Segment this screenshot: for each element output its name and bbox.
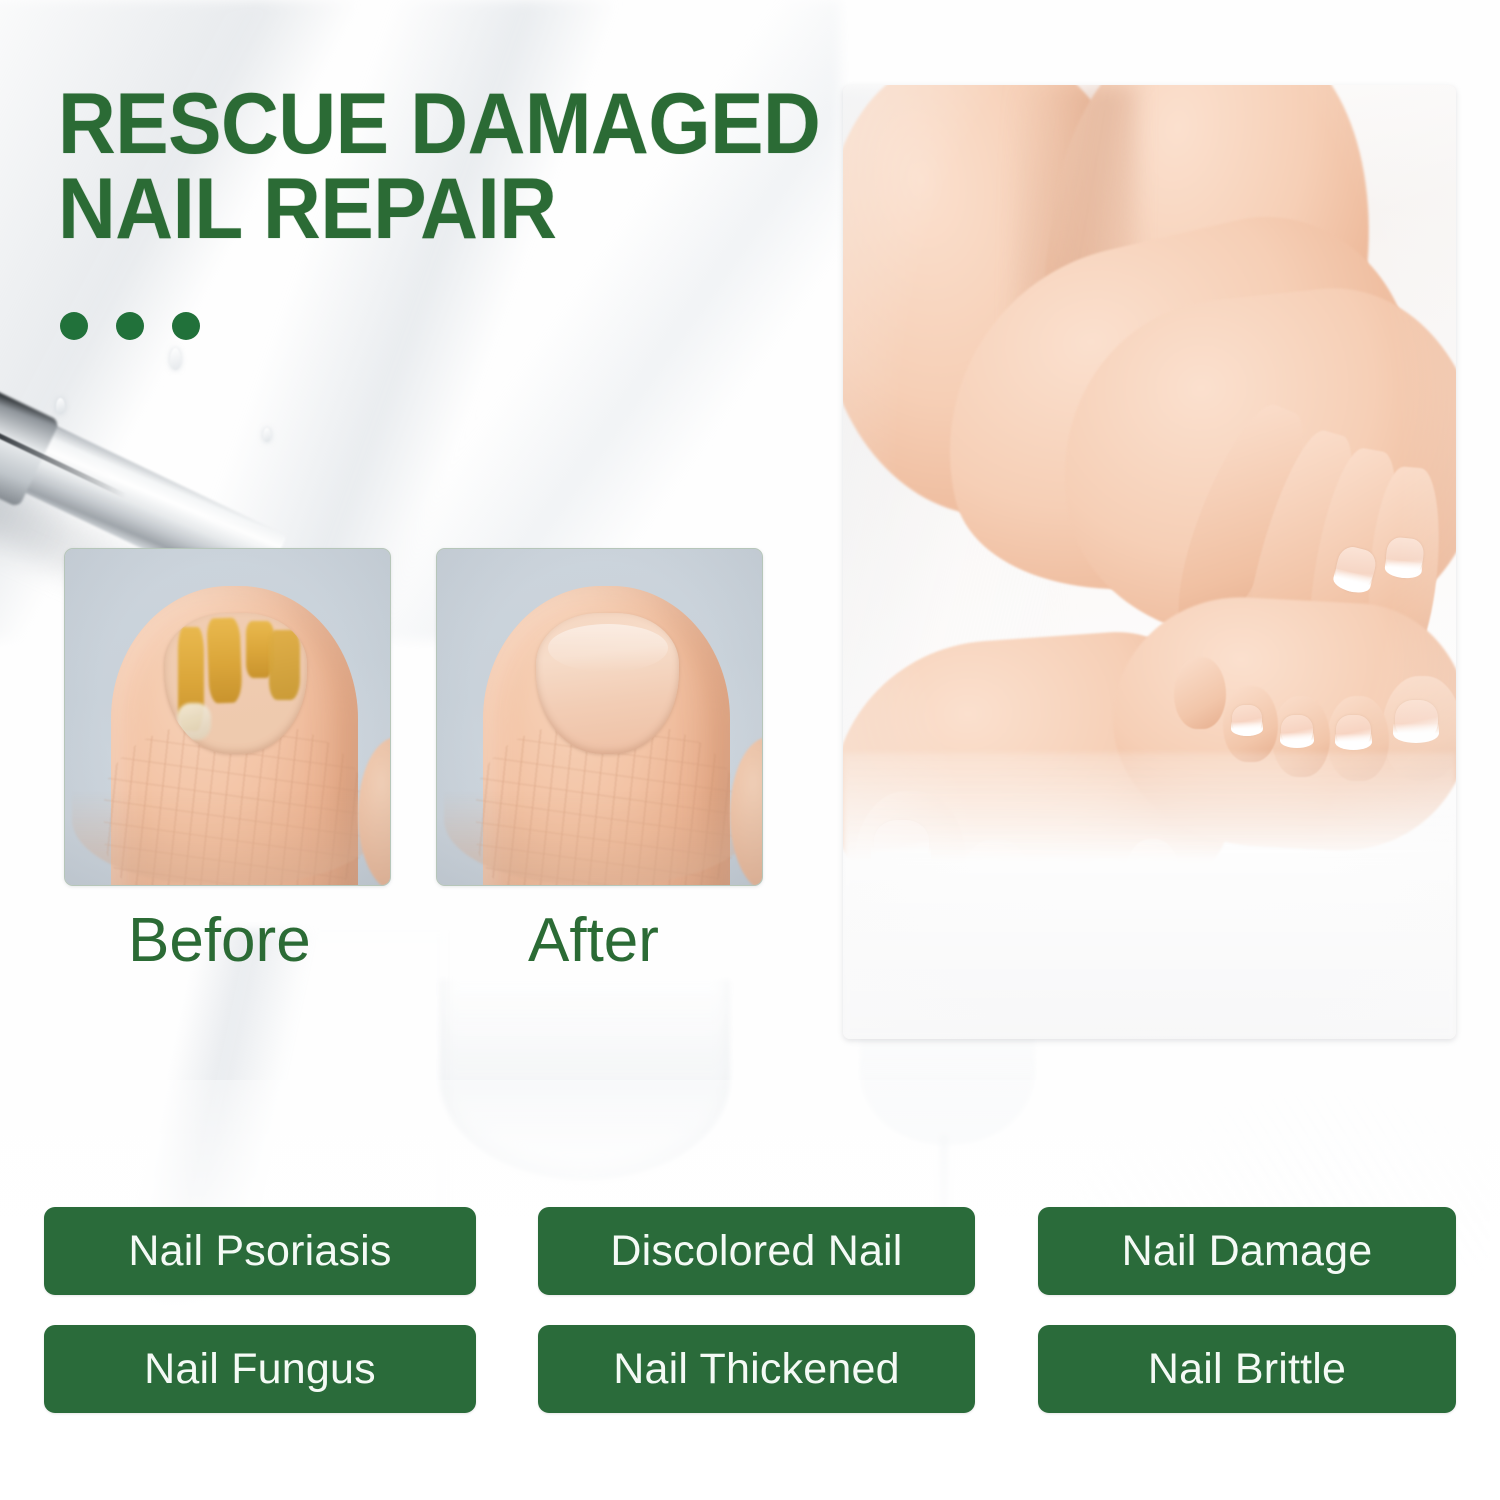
- water-drop-decoration: [56, 398, 65, 414]
- condition-badge-nail-damage[interactable]: Nail Damage: [1038, 1207, 1456, 1295]
- hero-photo: [843, 85, 1456, 1039]
- condition-badge-discolored-nail[interactable]: Discolored Nail: [538, 1207, 975, 1295]
- after-label: After: [528, 905, 659, 976]
- after-nail-photo: [437, 549, 762, 885]
- headline-line-2: NAIL REPAIR: [58, 167, 793, 252]
- water-drop-decoration: [170, 348, 181, 370]
- condition-badge-nail-fungus[interactable]: Nail Fungus: [44, 1325, 476, 1413]
- condition-badge-row-1: Nail Psoriasis Discolored Nail Nail Dama…: [0, 1207, 1500, 1295]
- condition-badge-nail-brittle[interactable]: Nail Brittle: [1038, 1325, 1456, 1413]
- water-drop-decoration: [263, 428, 271, 442]
- condition-badge-row-2: Nail Fungus Nail Thickened Nail Brittle: [0, 1325, 1500, 1413]
- accent-dot: [60, 312, 88, 340]
- accent-dot: [172, 312, 200, 340]
- page-title: RESCUE DAMAGED NAIL REPAIR: [58, 82, 793, 252]
- accent-dots: [60, 312, 200, 340]
- before-image-card: [64, 548, 391, 886]
- product-infographic: RESCUE DAMAGED NAIL REPAIR: [0, 0, 1500, 1500]
- before-nail-photo: [65, 549, 390, 885]
- after-image-card: [436, 548, 763, 886]
- accent-dot: [116, 312, 144, 340]
- headline-line-1: RESCUE DAMAGED: [58, 82, 793, 167]
- condition-badge-nail-psoriasis[interactable]: Nail Psoriasis: [44, 1207, 476, 1295]
- condition-badge-nail-thickened[interactable]: Nail Thickened: [538, 1325, 975, 1413]
- before-label: Before: [128, 905, 311, 976]
